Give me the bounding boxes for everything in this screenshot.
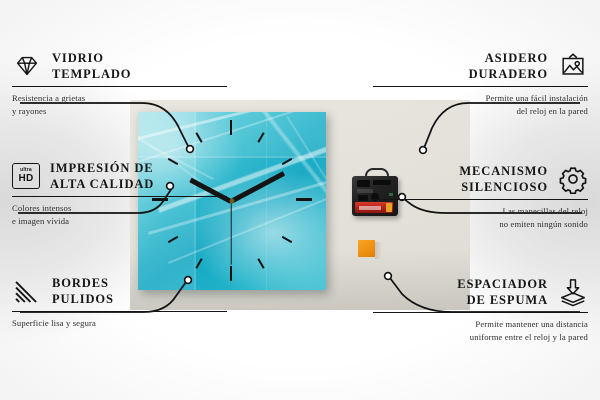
arrow-down-stack-icon (558, 277, 588, 307)
feature-bordes-pulidos: BORDES PULIDOS Superficie lisa y segura (12, 275, 227, 330)
diagonal-lines-icon (12, 276, 42, 306)
feature-asidero-duradero: ASIDERO DURADERO Permite una fácil insta… (373, 50, 588, 117)
ultra-hd-icon: ultra HD (12, 163, 40, 189)
feature-divider (12, 311, 227, 312)
feature-subtitle: Permite una fácil instalación del reloj … (373, 92, 588, 116)
feature-title: ESPACIADOR DE ESPUMA (457, 276, 548, 308)
clock-second-hand (230, 201, 231, 265)
feature-subtitle: Colores intensos e imagen vívida (12, 202, 227, 226)
feature-title: BORDES PULIDOS (52, 275, 114, 307)
feature-vidrio-templado: VIDRIO TEMPLADO Resistencia a grietas y … (12, 50, 227, 117)
feature-subtitle: Superficie lisa y segura (12, 317, 227, 329)
feature-divider (373, 86, 588, 87)
feature-subtitle: Las manecillas del reloj no emiten ningú… (373, 205, 588, 229)
feature-header: ultra HD IMPRESIÓN DE ALTA CALIDAD (12, 160, 227, 192)
feature-divider (373, 199, 588, 200)
foam-spacer (358, 240, 375, 257)
feature-subtitle: Permite mantener una distancia uniforme … (373, 318, 588, 342)
feature-subtitle: Resistencia a grietas y rayones (12, 92, 227, 116)
diamond-icon (12, 51, 42, 81)
feature-title: ASIDERO DURADERO (469, 50, 548, 82)
feature-impresion-alta-calidad: ultra HD IMPRESIÓN DE ALTA CALIDAD Color… (12, 160, 227, 227)
foam-spacer-shadow (375, 242, 381, 259)
gear-icon (558, 164, 588, 194)
feature-divider (12, 196, 227, 197)
feature-header: VIDRIO TEMPLADO (12, 50, 227, 82)
picture-frame-hook-icon (558, 51, 588, 81)
feature-divider (12, 86, 227, 87)
feature-header: MECANISMO SILENCIOSO (373, 163, 588, 195)
feature-header: BORDES PULIDOS (12, 275, 227, 307)
infographic-canvas: VIDRIO TEMPLADO Resistencia a grietas y … (0, 0, 600, 400)
feature-title: VIDRIO TEMPLADO (52, 50, 131, 82)
feature-header: ASIDERO DURADERO (373, 50, 588, 82)
feature-espaciador-espuma: ESPACIADOR DE ESPUMA Permite mantener un… (373, 276, 588, 343)
feature-header: ESPACIADOR DE ESPUMA (373, 276, 588, 308)
feature-divider (373, 312, 588, 313)
feature-title: MECANISMO SILENCIOSO (459, 163, 548, 195)
hd-label: HD (18, 174, 33, 184)
feature-mecanismo-silencioso: MECANISMO SILENCIOSO Las manecillas del … (373, 163, 588, 230)
clock-center-hub (230, 199, 235, 204)
feature-title: IMPRESIÓN DE ALTA CALIDAD (50, 160, 154, 192)
